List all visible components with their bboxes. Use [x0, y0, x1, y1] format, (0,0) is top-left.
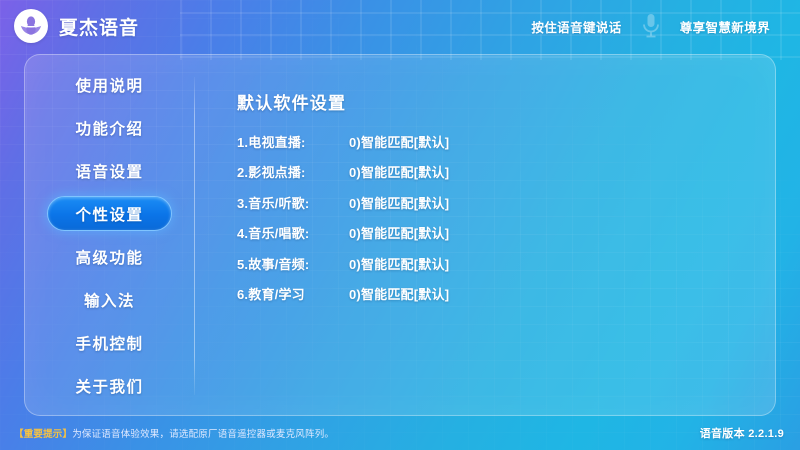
sidebar-item-phone-control[interactable]: 手机控制 — [25, 321, 194, 364]
voice-assistant-logo-icon — [14, 9, 48, 43]
brand: 夏杰语音 — [14, 9, 139, 43]
sidebar-item-label: 手机控制 — [75, 332, 143, 354]
sidebar-item-feature-intro[interactable]: 功能介绍 — [25, 106, 194, 149]
sidebar-nav: 使用说明 功能介绍 语音设置 个性设置 高级功能 输入法 手机控制 关于我们 — [25, 63, 194, 407]
setting-label: 5.故事/音频: — [237, 254, 349, 273]
main-panel: 使用说明 功能介绍 语音设置 个性设置 高级功能 输入法 手机控制 关于我们 — [24, 54, 776, 416]
header-slogan-left: 按住语音键说话 — [531, 17, 621, 36]
sidebar-item-label: 输入法 — [84, 289, 135, 311]
setting-value: 0)智能匹配[默认] — [349, 254, 449, 273]
setting-row[interactable]: 1.电视直播: 0)智能匹配[默认] — [237, 126, 797, 157]
sidebar-item-usage-instructions[interactable]: 使用说明 — [25, 63, 194, 106]
setting-row[interactable]: 6.教育/学习 0)智能匹配[默认] — [237, 279, 797, 310]
setting-value: 0)智能匹配[默认] — [349, 284, 449, 303]
footer-note: 【重要提示】为保证语音体验效果，请选配原厂语音遥控器或麦克风阵列。 — [14, 426, 334, 440]
setting-value: 0)智能匹配[默认] — [349, 162, 449, 181]
brand-title: 夏杰语音 — [59, 13, 139, 40]
setting-row[interactable]: 4.音乐/唱歌: 0)智能匹配[默认] — [237, 218, 797, 249]
sidebar-item-advanced-features[interactable]: 高级功能 — [25, 235, 194, 278]
setting-value: 0)智能匹配[默认] — [349, 132, 449, 151]
sidebar-item-personal-settings[interactable]: 个性设置 — [25, 192, 194, 235]
sidebar-item-label: 高级功能 — [75, 246, 143, 268]
footer-note-body: 为保证语音体验效果，请选配原厂语音遥控器或麦克风阵列。 — [72, 429, 334, 440]
sidebar-item-label: 语音设置 — [75, 160, 143, 182]
header-slogan-right: 尊享智慧新境界 — [680, 17, 770, 36]
app-header: 夏杰语音 按住语音键说话 尊享智慧新境界 — [0, 0, 800, 52]
version-label: 语音版本 2.2.1.9 — [700, 425, 784, 441]
setting-label: 2.影视点播: — [237, 162, 349, 181]
setting-row[interactable]: 3.音乐/听歌: 0)智能匹配[默认] — [237, 187, 797, 218]
sidebar-item-label: 个性设置 — [75, 203, 143, 225]
settings-list: 1.电视直播: 0)智能匹配[默认] 2.影视点播: 0)智能匹配[默认] 3.… — [237, 126, 797, 309]
setting-value: 0)智能匹配[默认] — [349, 193, 449, 212]
footer-note-tag: 【重要提示】 — [14, 429, 72, 440]
setting-label: 3.音乐/听歌: — [237, 193, 349, 212]
sidebar-item-label: 使用说明 — [75, 74, 143, 96]
header-slogans: 按住语音键说话 尊享智慧新境界 — [531, 0, 770, 52]
sidebar-item-label: 功能介绍 — [75, 117, 143, 139]
sidebar-item-about-us[interactable]: 关于我们 — [25, 364, 194, 407]
setting-value: 0)智能匹配[默认] — [349, 223, 449, 242]
sidebar-item-label: 关于我们 — [75, 375, 143, 397]
setting-label: 4.音乐/唱歌: — [237, 223, 349, 242]
footer: 【重要提示】为保证语音体验效果，请选配原厂语音遥控器或麦克风阵列。 语音版本 2… — [0, 416, 800, 450]
setting-label: 6.教育/学习 — [237, 284, 349, 303]
sidebar-item-input-method[interactable]: 输入法 — [25, 278, 194, 321]
page-title: 默认软件设置 — [237, 89, 346, 114]
voice-assistant-screen: 夏杰语音 按住语音键说话 尊享智慧新境界 使用说明 功能介绍 — [0, 0, 800, 450]
setting-row[interactable]: 2.影视点播: 0)智能匹配[默认] — [237, 157, 797, 188]
setting-label: 1.电视直播: — [237, 132, 349, 151]
setting-row[interactable]: 5.故事/音频: 0)智能匹配[默认] — [237, 248, 797, 279]
sidebar-item-voice-settings[interactable]: 语音设置 — [25, 149, 194, 192]
microphone-icon — [640, 12, 662, 40]
content-area: 默认软件设置 1.电视直播: 0)智能匹配[默认] 2.影视点播: 0)智能匹配… — [195, 55, 775, 415]
